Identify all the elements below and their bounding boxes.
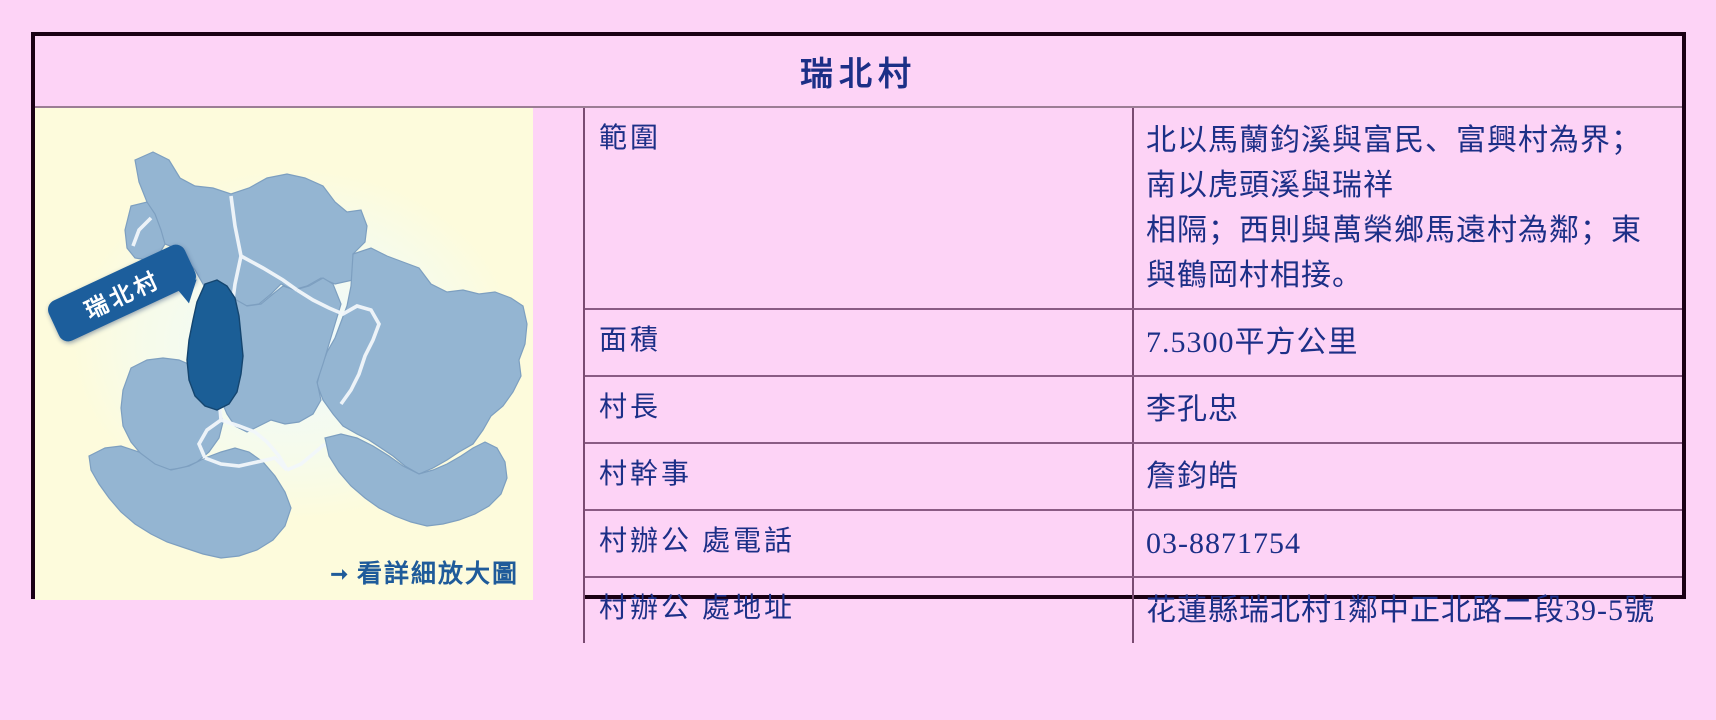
row-value-range: 北以馬蘭鈞溪與富民、富興村為界；南以虎頭溪與瑞祥 相隔；西則與萬榮鄉馬遠村為鄰；… (1133, 107, 1682, 309)
page-root: 瑞北村 (0, 0, 1716, 720)
row-value-secretary: 詹鈞皓 (1133, 443, 1682, 510)
row-value-address: 花蓮縣瑞北村1鄰中正北路二段39-5號 (1133, 577, 1682, 643)
label-text: 村辦公 (599, 593, 692, 624)
label-text: 處電話 (702, 526, 795, 557)
label-text: 村長 (599, 392, 661, 423)
row-label-phone: 村辦公 處電話 (584, 510, 1133, 577)
label-text: 面積 (599, 325, 661, 356)
row-label-address: 村辦公 處地址 (584, 577, 1133, 643)
page-title: 瑞北村 (35, 36, 1682, 107)
title-row: 瑞北村 (35, 36, 1682, 107)
row-label-chief: 村長 (584, 376, 1133, 443)
label-text: 處地址 (702, 593, 795, 624)
label-text: 村幹事 (599, 459, 692, 490)
content-row: 瑞北村 ➞ 看詳細放大圖 範圍 北以馬蘭鈞溪與富民、富興村為界；南以虎頭溪與瑞祥 (35, 107, 1682, 309)
label-text: 村辦公 (599, 526, 692, 557)
row-label-range: 範圍 (584, 107, 1133, 309)
village-info-table: 瑞北村 (31, 32, 1686, 599)
township-map-svg (35, 108, 533, 600)
row-value-chief: 李孔忠 (1133, 376, 1682, 443)
map-cell: 瑞北村 ➞ 看詳細放大圖 (35, 107, 584, 643)
value-line: 03-8871754 (1146, 521, 1668, 566)
value-line: 詹鈞皓 (1146, 454, 1668, 499)
arrow-down-right-icon: ➞ (330, 564, 350, 585)
value-line: 李孔忠 (1146, 387, 1668, 432)
value-line: 花蓮縣瑞北村1鄰中正北路二段39-5號 (1146, 588, 1668, 633)
value-line: 7.5300平方公里 (1146, 320, 1668, 365)
village-map[interactable]: 瑞北村 ➞ 看詳細放大圖 (35, 108, 533, 600)
view-detail-map-label: 看詳細放大圖 (357, 554, 519, 590)
value-line: 北以馬蘭鈞溪與富民、富興村為界；南以虎頭溪與瑞祥 (1146, 118, 1668, 208)
row-label-secretary: 村幹事 (584, 443, 1133, 510)
row-value-phone: 03-8871754 (1133, 510, 1682, 577)
row-value-area: 7.5300平方公里 (1133, 309, 1682, 376)
row-label-area: 面積 (584, 309, 1133, 376)
label-text: 範圍 (599, 123, 661, 154)
value-line: 相隔；西則與萬榮鄉馬遠村為鄰；東與鶴岡村相接。 (1146, 208, 1668, 298)
view-detail-map-link[interactable]: ➞ 看詳細放大圖 (330, 554, 519, 590)
